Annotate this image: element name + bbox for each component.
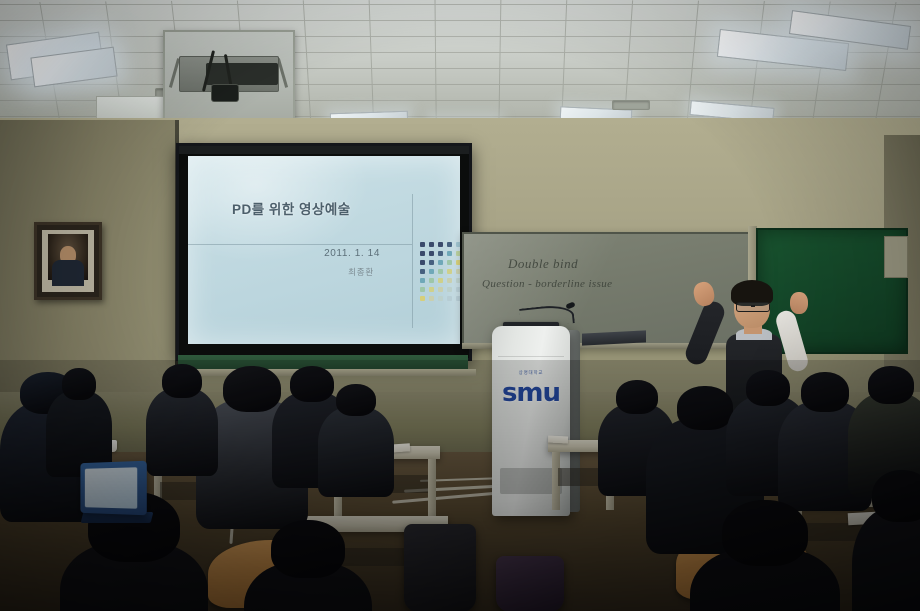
projector-lens bbox=[211, 84, 239, 102]
slide-dot-26 bbox=[420, 287, 425, 292]
student-puffer-center-head bbox=[677, 386, 733, 430]
student-center-c-torso bbox=[318, 407, 394, 497]
slide-dot-9 bbox=[447, 251, 452, 256]
desk-front-mid-leg-right bbox=[428, 459, 436, 517]
podium-university-name: 상명대학교 bbox=[492, 370, 570, 376]
slide-dot-11 bbox=[420, 260, 425, 265]
slide-dot-10 bbox=[456, 251, 460, 256]
slide-dot-3 bbox=[438, 242, 443, 247]
portrait-photo bbox=[48, 234, 88, 280]
paper-sheet-3 bbox=[548, 435, 568, 443]
student-fg-right bbox=[690, 500, 840, 611]
slide-dot-33 bbox=[438, 296, 443, 301]
whiteboard-text-line1: Double bind bbox=[508, 256, 578, 272]
slide-dot-17 bbox=[429, 269, 434, 274]
student-center-a-head bbox=[162, 364, 202, 398]
slide-dot-18 bbox=[438, 269, 443, 274]
student-fg-right-head bbox=[722, 500, 808, 566]
slide-dot-6 bbox=[420, 251, 425, 256]
slide-dot-grid-graphic bbox=[420, 242, 460, 303]
handbag-purple bbox=[496, 556, 564, 611]
slide-dot-5 bbox=[456, 242, 460, 247]
wall-sign bbox=[884, 236, 908, 278]
slide-dot-14 bbox=[447, 260, 452, 265]
slide-date: 2011. 1. 14 bbox=[324, 248, 380, 259]
student-fg-far-right bbox=[852, 470, 920, 611]
slide-dot-7 bbox=[429, 251, 434, 256]
instructor-right-hand bbox=[790, 292, 808, 314]
podium-seam bbox=[498, 356, 564, 357]
slide-dot-21 bbox=[420, 278, 425, 283]
framed-portrait bbox=[34, 222, 102, 300]
slide-horizontal-rule bbox=[188, 244, 412, 245]
slide-dot-35 bbox=[456, 296, 460, 301]
student-fg-far-right-head bbox=[872, 470, 920, 522]
slide-dot-12 bbox=[429, 260, 434, 265]
slide-dot-2 bbox=[429, 242, 434, 247]
slide-vertical-rule bbox=[412, 194, 413, 328]
slide-dot-31 bbox=[420, 296, 425, 301]
lecture-hall-photo: PD를 위한 영상예술 2011. 1. 14 최종환 Double bind … bbox=[0, 0, 920, 611]
slide-title: PD를 위한 영상예술 bbox=[232, 198, 351, 218]
projection-screen: PD를 위한 영상예술 2011. 1. 14 최종환 bbox=[176, 143, 472, 361]
laptop[interactable] bbox=[78, 462, 150, 524]
student-raised-hand-head bbox=[62, 368, 96, 400]
student-right-hood-head bbox=[801, 372, 849, 412]
slide-dot-28 bbox=[438, 287, 443, 292]
slide-dot-29 bbox=[447, 287, 452, 292]
slide-dot-16 bbox=[420, 269, 425, 274]
slide-dot-1 bbox=[420, 242, 425, 247]
laptop-screen bbox=[85, 467, 137, 508]
slide-dot-8 bbox=[438, 251, 443, 256]
slide-dot-22 bbox=[429, 278, 434, 283]
slide-dot-27 bbox=[429, 287, 434, 292]
whiteboard-text-line2: Question - borderline issue bbox=[482, 278, 612, 290]
slide-dot-25 bbox=[456, 278, 460, 283]
student-fg-far-right-torso bbox=[852, 507, 920, 611]
instructor-glasses bbox=[736, 302, 770, 312]
ceiling-vent-3 bbox=[612, 100, 650, 110]
student-center-a bbox=[146, 364, 218, 486]
slide-dot-20 bbox=[456, 269, 460, 274]
slide-author: 최종환 bbox=[348, 266, 374, 278]
presentation-slide: PD를 위한 영상예술 2011. 1. 14 최종환 bbox=[188, 156, 460, 344]
student-center-c bbox=[318, 384, 394, 506]
student-far-right-head bbox=[868, 366, 914, 404]
slide-dot-30 bbox=[456, 287, 460, 292]
slide-dot-32 bbox=[429, 296, 434, 301]
projector-vent bbox=[206, 63, 278, 85]
portrait-suit bbox=[52, 260, 84, 286]
student-dark-fg-left bbox=[244, 520, 372, 611]
instructor-left-arm-raised bbox=[682, 298, 727, 367]
slide-dot-23 bbox=[438, 278, 443, 283]
slide-dot-24 bbox=[447, 278, 452, 283]
ceiling-projector-housing bbox=[163, 30, 295, 122]
slide-dot-15 bbox=[456, 260, 460, 265]
student-dark-fg-left-head bbox=[271, 520, 345, 578]
laptop-lid bbox=[80, 461, 146, 516]
screen-roller-bar bbox=[179, 146, 469, 154]
slide-dot-13 bbox=[438, 260, 443, 265]
student-center-a-torso bbox=[146, 388, 218, 476]
slide-dot-4 bbox=[447, 242, 452, 247]
slide-dot-34 bbox=[447, 296, 452, 301]
podium-smu-logo: smu bbox=[492, 378, 570, 408]
backpack bbox=[404, 524, 476, 611]
student-center-c-head bbox=[336, 384, 376, 416]
slide-dot-19 bbox=[447, 269, 452, 274]
